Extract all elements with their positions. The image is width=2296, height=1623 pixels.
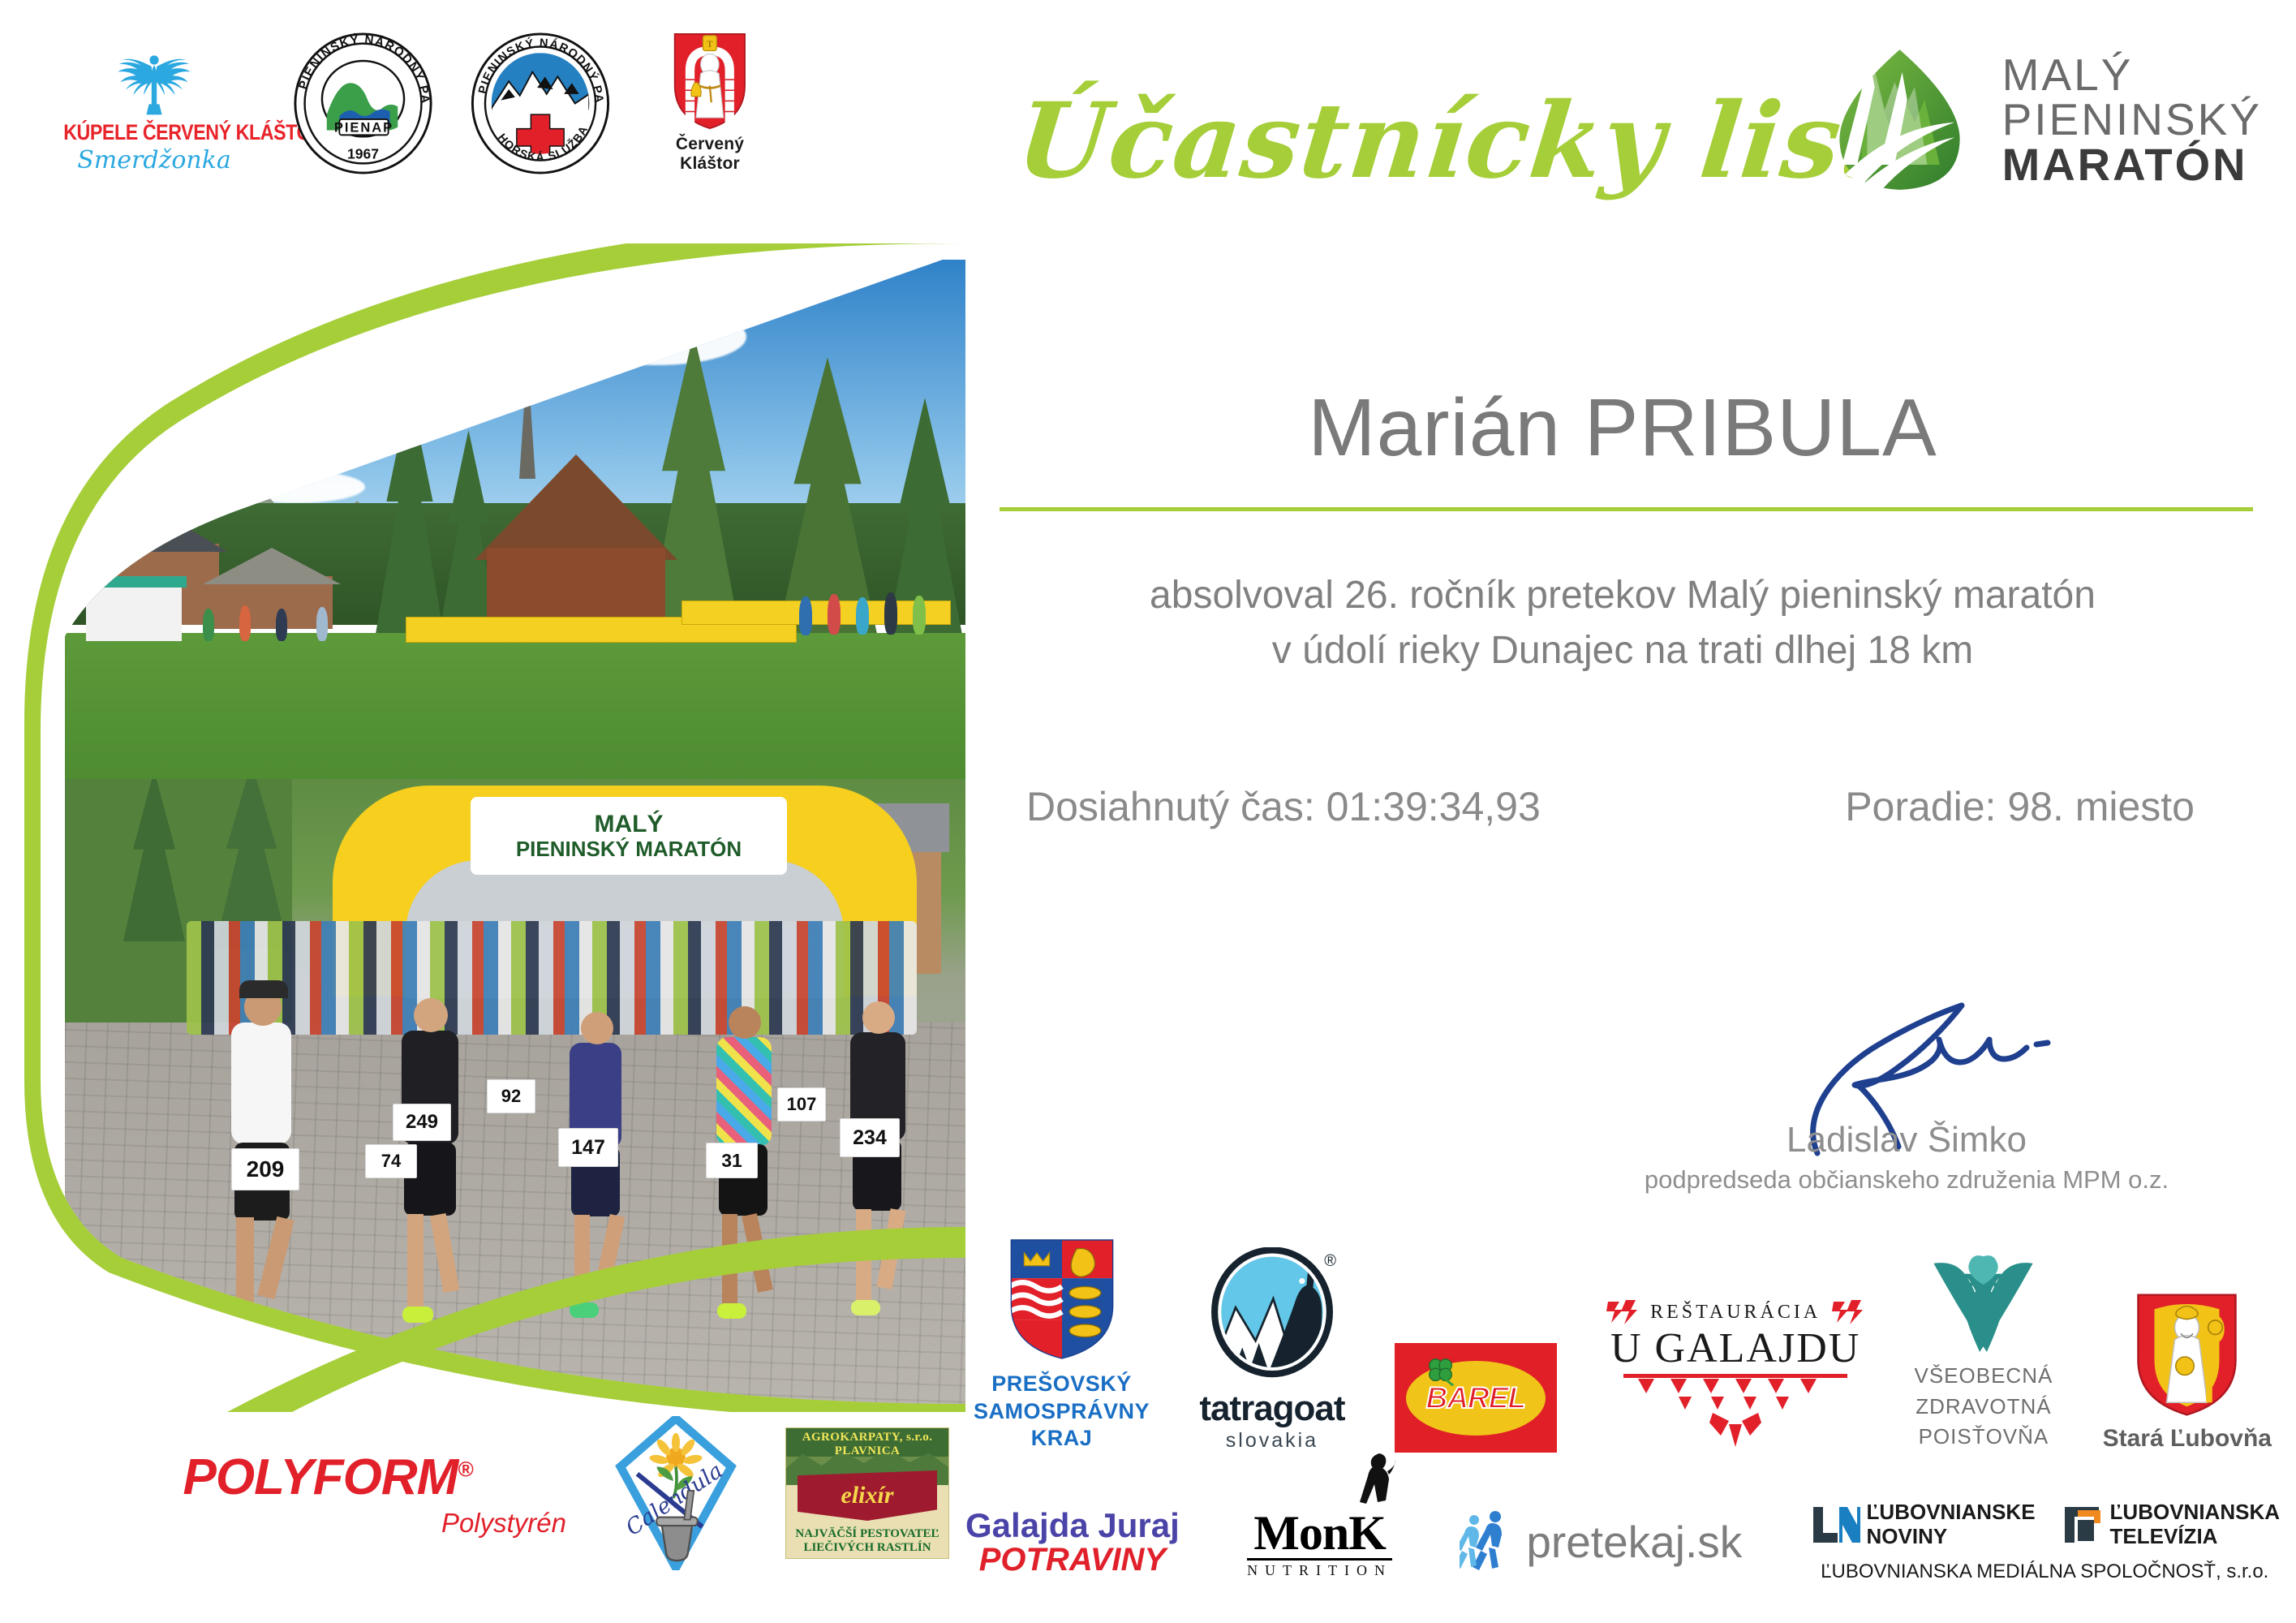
signatory-role: podpredseda občianskeho združenia MPM o.… [1639, 1165, 2174, 1195]
brand-logo-maly-pieninsky-maraton: MALÝ PIENINSKÝ MARATÓN [1825, 45, 2262, 195]
brand-word-line2: PIENINSKÝ [2002, 97, 2262, 142]
bib-number: 92 [487, 1079, 535, 1113]
vszp-leaf-icon [1928, 1255, 2038, 1352]
venue-photo [65, 260, 965, 795]
start-photo: MALÝ PIENINSKÝ MARATÓN [65, 779, 965, 1404]
sponsor-row-primary: PREŠOVSKÝ SAMOSPRÁVNY KRAJ [974, 1233, 2272, 1453]
sponsor-polyform: POLYFORM® Polystyrén [89, 1449, 566, 1539]
sponsor-lubovnianska-televizia: ĽUBOVNIANSKA TELEVÍZIA [2063, 1500, 2280, 1549]
divider [1000, 507, 2253, 511]
top-partner-logos: KÚPELE ČERVENÝ KLÁŠTOR Smerdžonka PIENAP… [49, 32, 941, 187]
sponsor-sublabel-nutrition: NUTRITION [1247, 1562, 1392, 1579]
water-fountain-statue-icon [89, 41, 219, 118]
sponsor-label-bottom2: LIEČIVÝCH RASTLÍN [786, 1541, 948, 1555]
gate-text-line1: MALÝ [595, 811, 664, 837]
cerveny-klastor-coat-of-arms-icon: T [672, 32, 748, 130]
sponsor-label-line1: PREŠOVSKÝ [974, 1371, 1150, 1398]
monk-figure-icon [1355, 1452, 1397, 1515]
sponsor-vseobecna-zdravotna-poistovna: VŠEOBECNÁ ZDRAVOTNÁ POISŤOVŇA [1915, 1255, 2053, 1453]
sponsor-calendula: Calendula [615, 1416, 737, 1570]
sponsor-label-line1: ĽUBOVNIANSKE [1867, 1500, 2036, 1525]
bib-number: 249 [393, 1104, 451, 1141]
sponsor-stara-lubovna: Stará Ľubovňa [2103, 1292, 2272, 1453]
sponsor-label-company: ĽUBOVNIANSKA MEDIÁLNA SPOLOČNOSŤ, s.r.o. [1810, 1561, 2280, 1583]
sponsor-label-line2: NOVINY [1867, 1525, 2036, 1549]
sponsor-presovsky-samospravny-kraj: PREŠOVSKÝ SAMOSPRÁVNY KRAJ [974, 1238, 1150, 1453]
partner-label-caption: Červený Kláštor [649, 135, 771, 174]
partner-logo-cerveny-klastor: T Červený Kláštor [649, 32, 771, 174]
stara-lubovna-coat-of-arms-icon [2136, 1292, 2238, 1418]
sponsor-barel: BAREL [1395, 1343, 1557, 1453]
sponsor-label-tatragoat: tatragoat [1199, 1388, 1344, 1429]
bib-number: 209 [231, 1148, 299, 1190]
sponsor-label-bottom1: NAJVÄČŠÍ PESTOVATEĽ [786, 1527, 948, 1541]
folk-ornament-icon [1606, 1298, 1639, 1326]
sponsor-label-line2: POTRAVINY [965, 1542, 1180, 1578]
recipient-name: Marián PRIBULA [990, 381, 2255, 475]
folk-ornament-icon [1832, 1298, 1864, 1326]
sponsor-monk-nutrition: MonK NUTRITION [1247, 1505, 1392, 1579]
photo-collage: MALÝ PIENINSKÝ MARATÓN [24, 243, 965, 1412]
partner-logo-kupele-cerveny-klastor: KÚPELE ČERVENÝ KLÁŠTOR Smerdžonka [49, 32, 260, 174]
race-results: Dosiahnutý čas: 01:39:34,93 Poradie: 98.… [1006, 783, 2239, 830]
result-placement: Poradie: 98. miesto [1845, 783, 2239, 830]
sponsor-pretekaj-sk: pretekaj.sk [1460, 1509, 1742, 1575]
sponsor-label-pretekaj: pretekaj.sk [1526, 1516, 1742, 1568]
sponsor-lubovnianska-medialna-spolocnost: ĽUBOVNIANSKE NOVINY ĽUBOVNIANSKA TELEVÍZ… [1810, 1500, 2280, 1583]
svg-text:PIENAP: PIENAP [334, 120, 393, 136]
result-time: Dosiahnutý čas: 01:39:34,93 [1006, 783, 1541, 830]
brand-word-line1: MALÝ [2002, 53, 2262, 97]
trademark-symbol: ® [1324, 1252, 1336, 1271]
partner-logo-pienap: PIENAP 1967 PIENINSKÝ NÁRODNÝ PARK [292, 32, 434, 174]
sponsor-label-top: AGROKARPATY, s.r.o. PLAVNICA [786, 1431, 948, 1458]
svg-text:1967: 1967 [347, 146, 379, 162]
sponsor-galajda-juraj: Galajda Juraj POTRAVINY [965, 1506, 1180, 1578]
description-line-1: absolvoval 26. ročník pretekov Malý pien… [990, 568, 2255, 623]
sponsor-label-line3: POISŤOVŇA [1915, 1422, 2053, 1453]
bib-number: 31 [706, 1143, 758, 1178]
barel-clover-oval-icon: BAREL [1395, 1343, 1557, 1453]
sponsor-row-left: POLYFORM® Polystyrén [89, 1371, 949, 1615]
folk-border-ornament-icon [1614, 1374, 1857, 1449]
bib-number: 74 [365, 1144, 417, 1178]
sponsor-sublabel-restauracia: REŠTAURÁCIA [1650, 1302, 1821, 1324]
sponsor-label-polyform: POLYFORM [183, 1449, 458, 1505]
page-title: Účastnícky list [1013, 89, 1737, 193]
bib-number: 147 [558, 1128, 618, 1167]
signature-block: Ladislav Šimko podpredseda občianskeho z… [1639, 1002, 2174, 1195]
partner-label-line2: Smerdžonka [49, 146, 260, 174]
sponsor-label-line2: SAMOSPRÁVNY [974, 1398, 1150, 1426]
mountain-leaf-icon [1825, 45, 1975, 195]
sponsor-label-line2: TELEVÍZIA [2110, 1525, 2280, 1549]
sponsor-label-u-galajdu: U GALAJDU [1606, 1324, 1864, 1372]
mountain-rescue-seal-icon: PIENINSKÝ NÁRODNÝ PARK HORSKÁ SLUŽBA [467, 32, 614, 174]
tatragoat-chamois-icon [1211, 1247, 1333, 1381]
sponsor-label-elixir: elixír [841, 1482, 894, 1509]
sponsor-label-line3: KRAJ [974, 1425, 1150, 1453]
partner-logo-horska-sluzba: PIENINSKÝ NÁRODNÝ PARK HORSKÁ SLUŽBA [467, 32, 617, 174]
sponsor-label-line1: ĽUBOVNIANSKA [2110, 1500, 2280, 1525]
agrokarpaty-elixir-label-icon: AGROKARPATY, s.r.o. PLAVNICA elixír NAJV… [785, 1427, 949, 1559]
certificate-description: absolvoval 26. ročník pretekov Malý pien… [990, 568, 2255, 678]
registered-symbol: ® [458, 1457, 472, 1481]
sponsor-row-secondary: Galajda Juraj POTRAVINY MonK NUTRITION [965, 1477, 2280, 1607]
sponsor-label-stara-lubovna: Stará Ľubovňa [2103, 1425, 2272, 1453]
sponsor-tatragoat: ® tatragoat slovakia [1199, 1247, 1344, 1453]
lt-logo-icon [2063, 1505, 2104, 1544]
sponsor-lubovnianske-noviny: ĽUBOVNIANSKE NOVINY [1810, 1500, 2036, 1549]
partner-label-line1: KÚPELE ČERVENÝ KLÁŠTOR [63, 120, 245, 145]
sponsor-sublabel-polystyren: Polystyrén [89, 1508, 566, 1539]
psk-coat-of-arms-icon [1009, 1238, 1115, 1360]
sponsor-label-line1: Galajda Juraj [965, 1506, 1180, 1545]
description-line-2: v údolí rieky Dunajec na trati dlhej 18 … [990, 623, 2255, 678]
gate-text-line2: PIENINSKÝ MARATÓN [516, 837, 742, 861]
bib-number: 234 [840, 1118, 900, 1157]
ln-logo-icon [1810, 1505, 1860, 1544]
svg-text:T: T [707, 40, 713, 50]
calendula-mortar-icon: Calendula [615, 1416, 737, 1570]
bib-number: 107 [777, 1087, 826, 1121]
running-figures-icon [1460, 1509, 1513, 1575]
certificate-page: KÚPELE ČERVENÝ KLÁŠTOR Smerdžonka PIENAP… [0, 0, 2296, 1623]
brand-word-line3: MARATÓN [2002, 142, 2262, 187]
clover-icon [1425, 1356, 1456, 1388]
signatory-name: Ladislav Šimko [1639, 1120, 2174, 1160]
sponsor-agrokarpaty-elixir: AGROKARPATY, s.r.o. PLAVNICA elixír NAJV… [785, 1427, 949, 1559]
sponsor-sublabel-slovakia: slovakia [1199, 1429, 1344, 1453]
sponsor-u-galajdu: REŠTAURÁCIA U GALAJDU [1606, 1298, 1864, 1453]
pienap-seal-icon: PIENAP 1967 PIENINSKÝ NÁRODNÝ PARK [292, 32, 434, 174]
sponsor-label-line2: ZDRAVOTNÁ [1915, 1392, 2053, 1423]
sponsor-label-line1: VŠEOBECNÁ [1915, 1361, 2053, 1392]
